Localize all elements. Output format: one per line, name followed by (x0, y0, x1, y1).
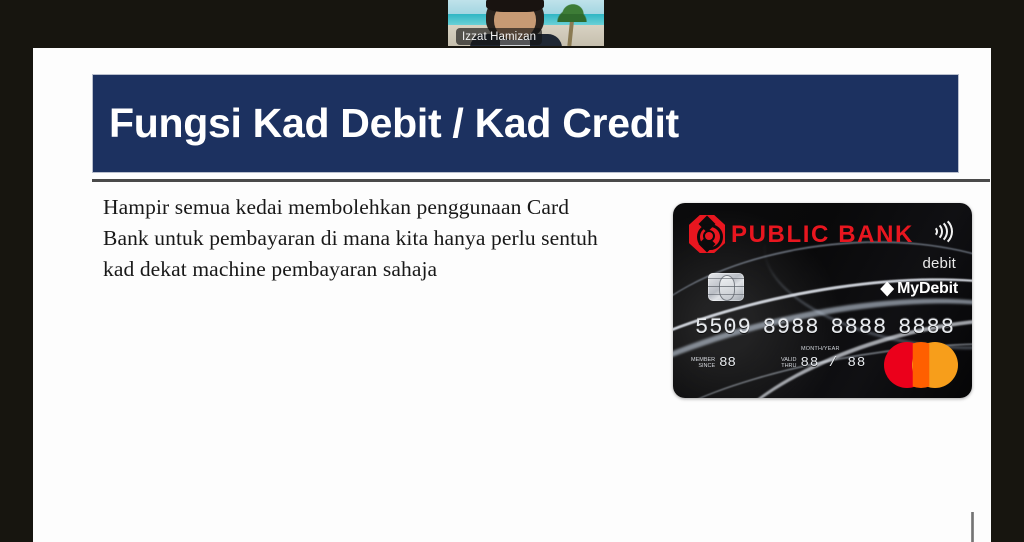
slide-divider (92, 179, 990, 182)
member-since-field: MEMBER SINCE 88 (691, 355, 736, 371)
text-cursor[interactable] (971, 512, 974, 542)
valid-thru-label-line2: THRU (781, 363, 797, 370)
slide-title: Fungsi Kad Debit / Kad Credit (93, 100, 679, 147)
participant-hair (486, 0, 544, 12)
presentation-slide: Fungsi Kad Debit / Kad Credit Hampir sem… (33, 48, 991, 542)
meeting-top-bar: Izzat Hamizan (0, 0, 1024, 48)
month-year-label: MONTH/YEAR (801, 346, 840, 352)
card-number: 5509 8988 8888 8888 (695, 315, 955, 340)
slide-body-text: Hampir semua kedai membolehkan penggunaa… (103, 192, 603, 285)
member-since-label: MEMBER SINCE (691, 357, 715, 370)
card-type-label: debit (922, 255, 956, 272)
participant-name-label: Izzat Hamizan (456, 28, 542, 45)
card-number-group-2: 8988 (763, 315, 820, 340)
valid-thru-label: VALID THRU (781, 357, 797, 370)
mydebit-logo: MyDebit (880, 280, 958, 298)
logo-center-dot (703, 230, 715, 242)
member-since-value: 88 (719, 355, 736, 371)
valid-thru-field: VALID THRU 88 / 88 (781, 355, 866, 371)
card-number-group-1: 5509 (695, 315, 752, 340)
public-bank-logo-icon (689, 215, 725, 253)
mydebit-diamond-icon (880, 282, 894, 297)
bank-card-image: PUBLIC BANK debit MyDebit 5509 8988 8888… (673, 203, 972, 398)
member-since-label-line2: SINCE (691, 363, 715, 370)
card-number-group-3: 8888 (830, 315, 887, 340)
mastercard-logo-icon (884, 342, 958, 388)
emv-chip-icon (708, 273, 744, 301)
palm-tree-fronds-upper (560, 2, 586, 14)
participant-name-text: Izzat Hamizan (462, 31, 536, 43)
valid-thru-value: 88 / 88 (801, 355, 867, 371)
contactless-arc-4 (921, 216, 953, 247)
card-bank-name: PUBLIC BANK (731, 221, 914, 249)
mydebit-label: MyDebit (897, 280, 958, 298)
contactless-payment-icon (930, 215, 958, 241)
screen-root: Izzat Hamizan Fungsi Kad Debit / Kad Cre… (0, 0, 1024, 542)
slide-title-bar: Fungsi Kad Debit / Kad Credit (92, 74, 959, 173)
card-number-group-4: 8888 (898, 315, 955, 340)
